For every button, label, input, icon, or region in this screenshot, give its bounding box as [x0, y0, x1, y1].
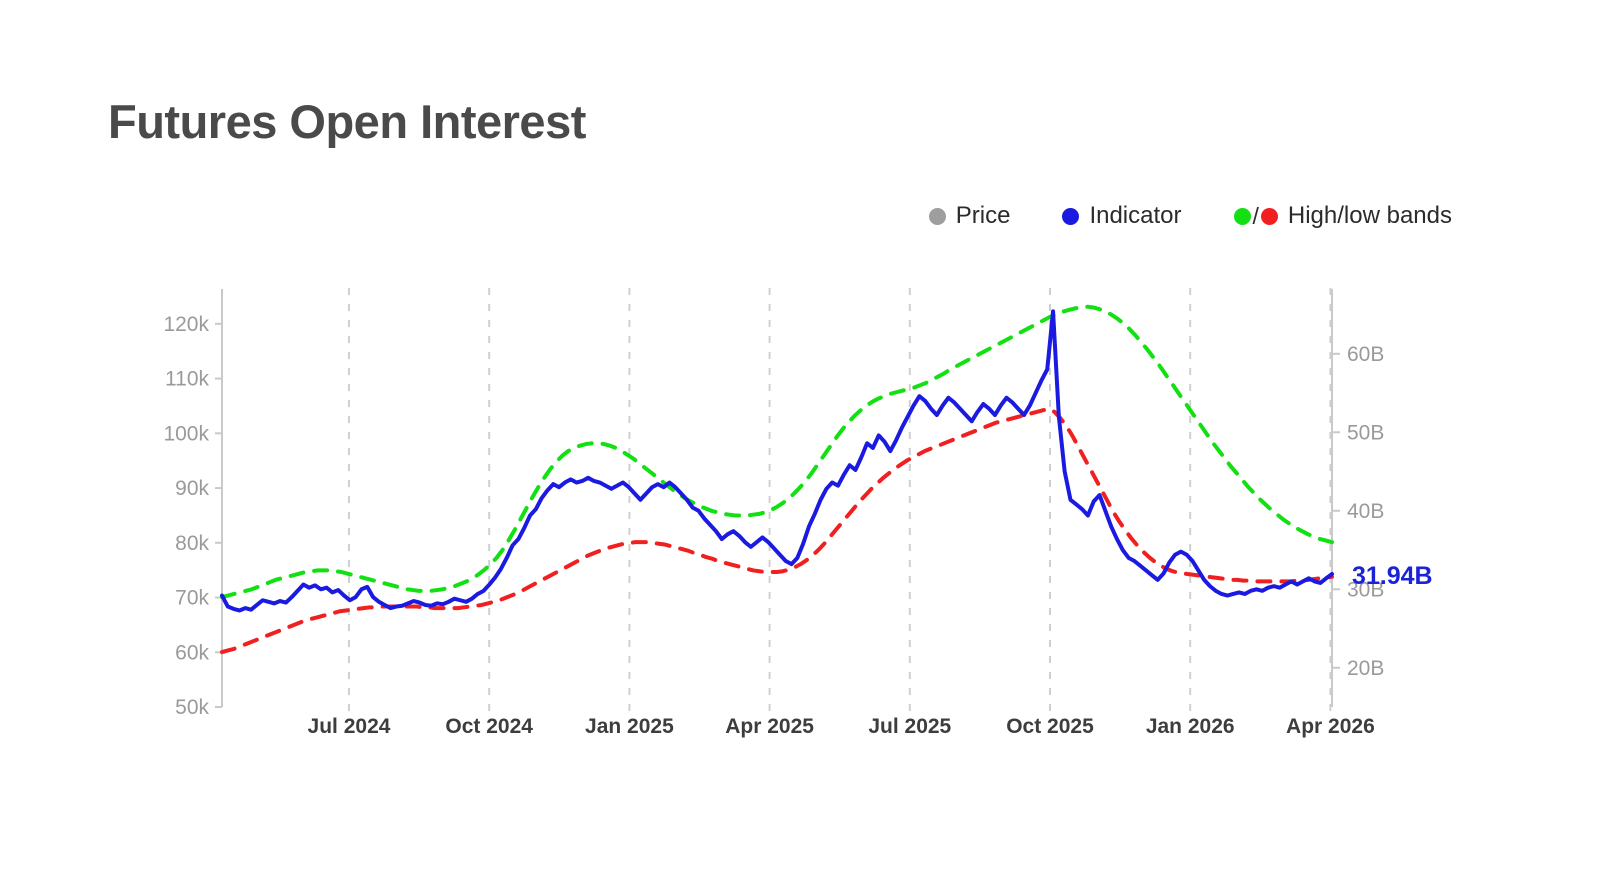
- chart-svg: 50k60k70k80k90k100k110k120k20B30B40B50B6…: [0, 0, 1624, 880]
- series-line-indicator: [222, 311, 1332, 610]
- x-axis-tick: Oct 2024: [445, 715, 533, 738]
- y-axis-left-tick: 70k: [175, 587, 209, 610]
- x-axis-tick: Jan 2025: [585, 715, 674, 738]
- y-axis-right-tick: 40B: [1347, 500, 1384, 523]
- y-axis-left-tick: 110k: [165, 368, 209, 391]
- plot-area: 50k60k70k80k90k100k110k120k20B30B40B50B6…: [0, 0, 1624, 880]
- y-axis-right-tick: 20B: [1347, 657, 1384, 680]
- y-axis-left-tick: 50k: [175, 696, 209, 719]
- x-axis-tick: Oct 2025: [1006, 715, 1094, 738]
- y-axis-left-tick: 60k: [175, 641, 209, 664]
- y-axis-left-tick: 100k: [163, 422, 209, 445]
- y-axis-right-tick: 60B: [1347, 343, 1384, 366]
- last-value-label: 31.94B: [1352, 562, 1433, 590]
- y-axis-left-tick: 120k: [163, 313, 209, 336]
- y-axis-right-tick: 50B: [1347, 421, 1384, 444]
- y-axis-left-tick: 80k: [175, 532, 209, 555]
- x-axis-tick: Apr 2026: [1286, 715, 1375, 738]
- x-axis-tick: Jan 2026: [1146, 715, 1235, 738]
- x-axis-tick: Jul 2024: [308, 715, 391, 738]
- x-axis-tick: Jul 2025: [868, 715, 951, 738]
- chart-card: Futures Open Interest Price Indicator / …: [0, 0, 1624, 880]
- series-line-low-band: [222, 409, 1332, 652]
- x-axis-tick: Apr 2025: [725, 715, 814, 738]
- y-axis-left-tick: 90k: [175, 477, 209, 500]
